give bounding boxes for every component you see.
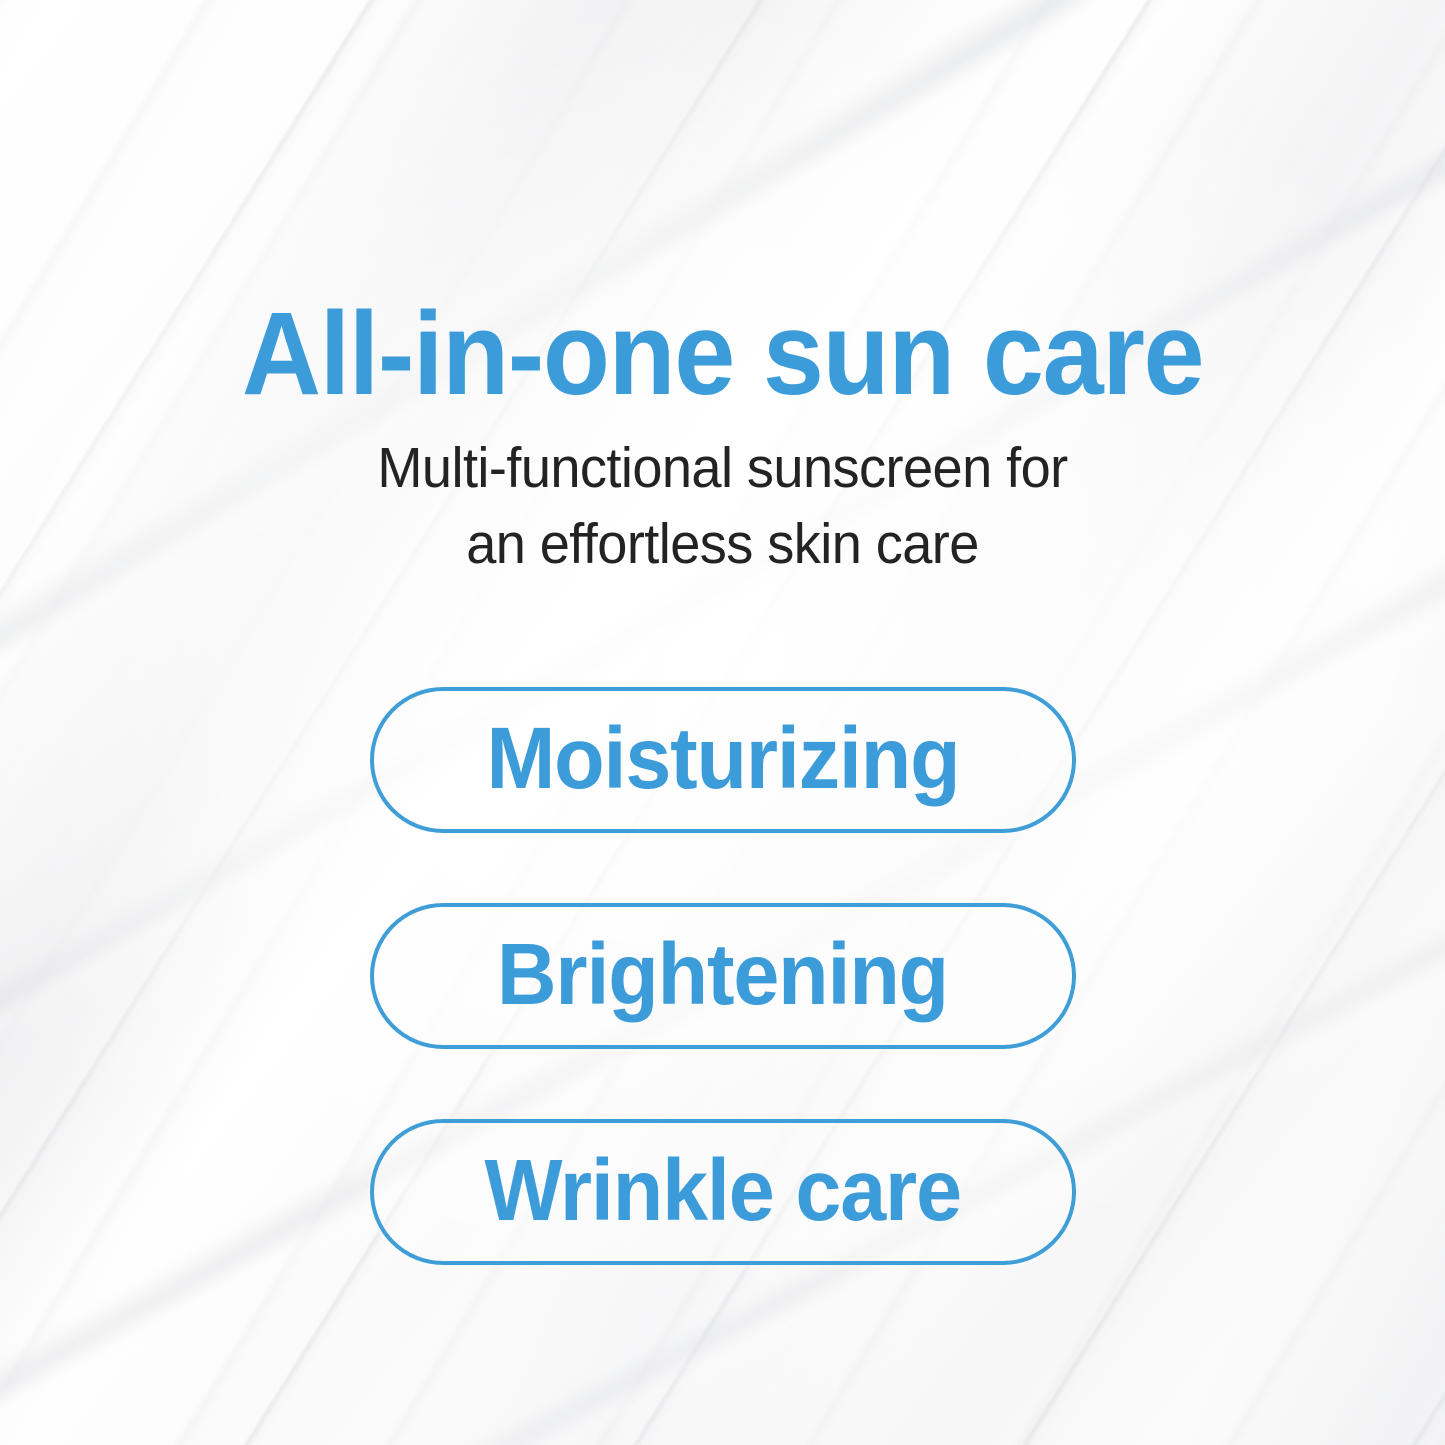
benefit-pill-label: Moisturizing (486, 715, 959, 802)
marketing-banner: All-in-one sun care Multi-functional sun… (0, 0, 1445, 1445)
subtitle: Multi-functional sunscreen for an effort… (36, 431, 1409, 583)
banner-content: All-in-one sun care Multi-functional sun… (0, 0, 1445, 1445)
subtitle-line-1: Multi-functional sunscreen for (36, 431, 1409, 507)
headline: All-in-one sun care (51, 295, 1395, 413)
benefit-pill-label: Wrinkle care (484, 1147, 960, 1234)
benefit-pill-label: Brightening (497, 931, 948, 1018)
benefit-pill-brightening: Brightening (370, 903, 1076, 1049)
benefit-pill-list: Moisturizing Brightening Wrinkle care (0, 687, 1445, 1265)
subtitle-line-2: an effortless skin care (36, 507, 1409, 583)
benefit-pill-wrinkle-care: Wrinkle care (370, 1119, 1076, 1265)
benefit-pill-moisturizing: Moisturizing (370, 687, 1076, 833)
